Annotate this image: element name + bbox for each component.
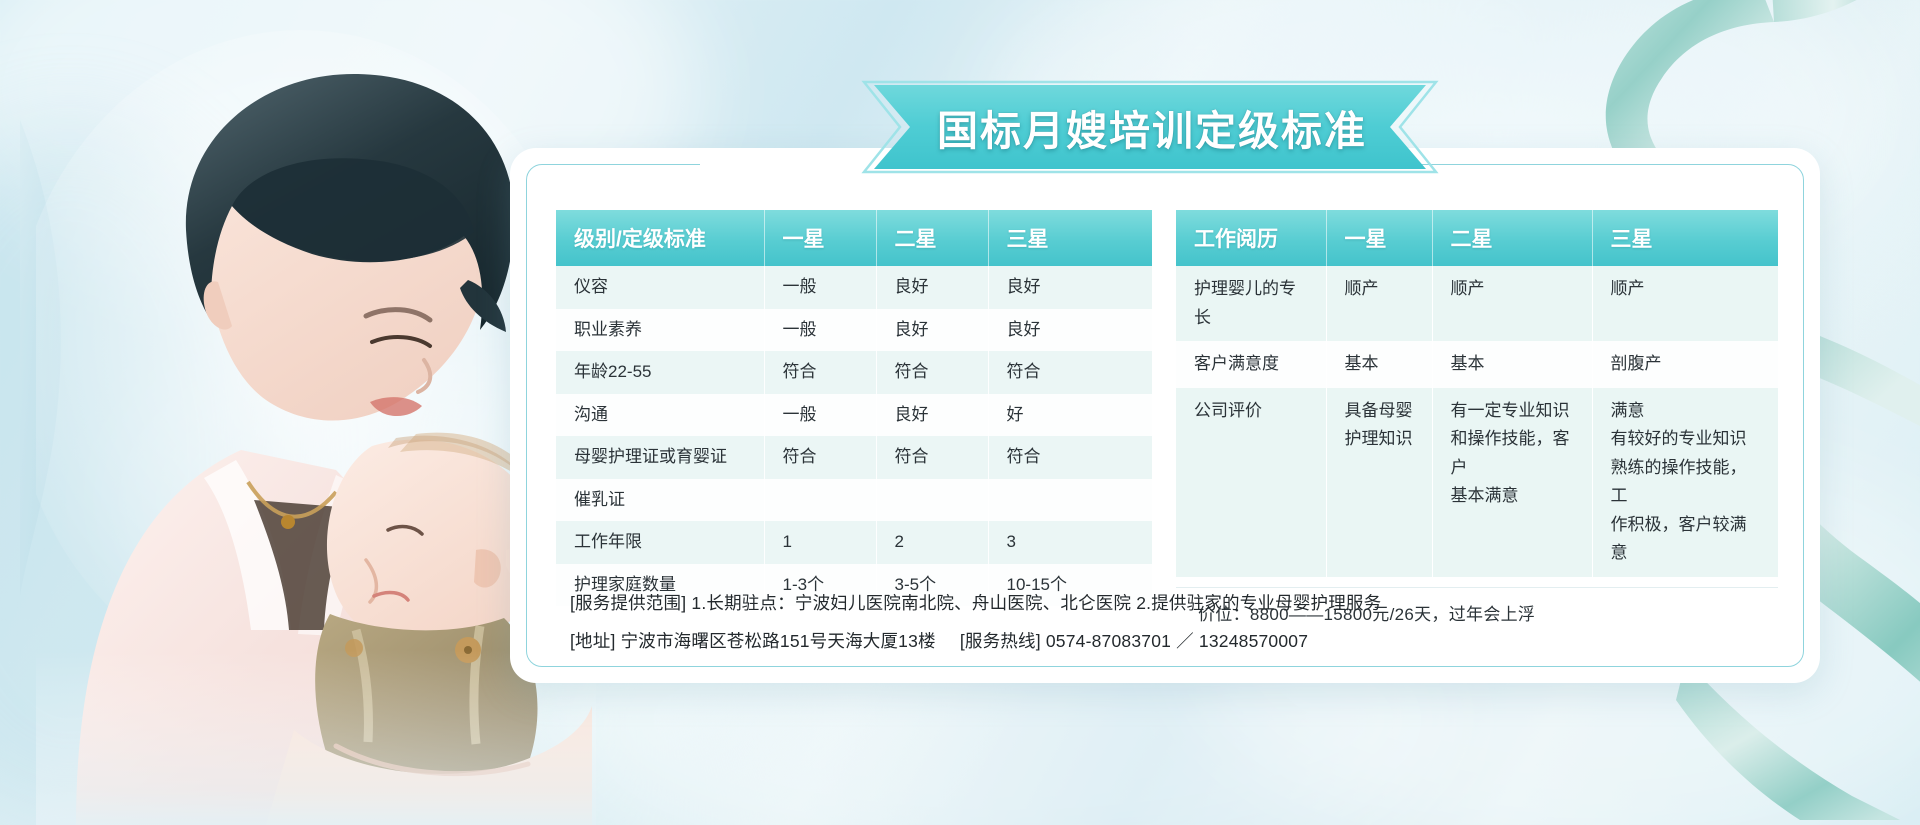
table-row: 母婴护理证或育婴证符合符合符合 xyxy=(556,436,1152,479)
right-table-panel: 工作阅历 一星 二星 三星 护理婴儿的专长顺产顺产顺产客户满意度基本基本剖腹产公… xyxy=(1176,210,1778,610)
cell-two-star: 符合 xyxy=(876,436,988,479)
cell-two-star: 良好 xyxy=(876,394,988,437)
cell-two-star: 符合 xyxy=(876,351,988,394)
row-label: 沟通 xyxy=(556,394,764,437)
col-header-three-star: 三星 xyxy=(1592,210,1778,266)
cell-one-star: 一般 xyxy=(764,309,876,352)
cell-one-star xyxy=(764,479,876,522)
cell-three-star: 好 xyxy=(988,394,1152,437)
row-label: 职业素养 xyxy=(556,309,764,352)
row-label: 公司评价 xyxy=(1176,388,1326,577)
left-table-panel: 级别/定级标准 一星 二星 三星 仪容一般良好良好职业素养一般良好良好年龄22-… xyxy=(556,210,1152,610)
row-label: 母婴护理证或育婴证 xyxy=(556,436,764,479)
cell-three-star: 满意有较好的专业知识熟练的操作技能，工作积极，客户较满意 xyxy=(1592,388,1778,577)
col-header-experience: 工作阅历 xyxy=(1176,210,1326,266)
col-header-three-star: 三星 xyxy=(988,210,1152,266)
cell-three-star: 良好 xyxy=(988,309,1152,352)
col-header-two-star: 二星 xyxy=(1432,210,1592,266)
cell-one-star: 具备母婴护理知识 xyxy=(1326,388,1432,577)
footer-info: [服务提供范围] 1.长期驻点：宁波妇儿医院南北院、舟山医院、北仑医院 2.提供… xyxy=(570,585,1800,660)
cell-three-star: 3 xyxy=(988,521,1152,564)
footer-address: [地址] 宁波市海曙区苍松路151号天海大厦13楼 xyxy=(570,631,936,651)
cell-three-star: 顺产 xyxy=(1592,266,1778,341)
col-header-one-star: 一星 xyxy=(1326,210,1432,266)
left-table-body: 仪容一般良好良好职业素养一般良好良好年龄22-55符合符合符合沟通一般良好好母婴… xyxy=(556,266,1152,606)
table-row: 客户满意度基本基本剖腹产 xyxy=(1176,341,1778,388)
table-row: 仪容一般良好良好 xyxy=(556,266,1152,309)
cell-two-star: 2 xyxy=(876,521,988,564)
row-label: 仪容 xyxy=(556,266,764,309)
table-row: 护理婴儿的专长顺产顺产顺产 xyxy=(1176,266,1778,341)
cell-two-star: 良好 xyxy=(876,266,988,309)
footer-address-line: [地址] 宁波市海曙区苍松路151号天海大厦13楼 [服务热线] 0574-87… xyxy=(570,623,1800,661)
cell-three-star: 剖腹产 xyxy=(1592,341,1778,388)
cell-two-star: 良好 xyxy=(876,309,988,352)
cell-one-star: 符合 xyxy=(764,351,876,394)
cell-three-star: 符合 xyxy=(988,351,1152,394)
row-label: 催乳证 xyxy=(556,479,764,522)
table-row: 公司评价具备母婴护理知识有一定专业知识和操作技能，客户基本满意满意有较好的专业知… xyxy=(1176,388,1778,577)
cell-two-star: 基本 xyxy=(1432,341,1592,388)
work-experience-table: 工作阅历 一星 二星 三星 护理婴儿的专长顺产顺产顺产客户满意度基本基本剖腹产公… xyxy=(1176,210,1778,577)
cell-three-star: 良好 xyxy=(988,266,1152,309)
cell-one-star: 基本 xyxy=(1326,341,1432,388)
table-row: 年龄22-55符合符合符合 xyxy=(556,351,1152,394)
footer-service-scope: [服务提供范围] 1.长期驻点：宁波妇儿医院南北院、舟山医院、北仑医院 2.提供… xyxy=(570,585,1800,623)
table-row: 沟通一般良好好 xyxy=(556,394,1152,437)
right-table-body: 护理婴儿的专长顺产顺产顺产客户满意度基本基本剖腹产公司评价具备母婴护理知识有一定… xyxy=(1176,266,1778,577)
cell-two-star xyxy=(876,479,988,522)
row-label: 客户满意度 xyxy=(1176,341,1326,388)
table-header-row: 级别/定级标准 一星 二星 三星 xyxy=(556,210,1152,266)
cell-one-star: 1 xyxy=(764,521,876,564)
cell-three-star xyxy=(988,479,1152,522)
ribbon-decoration-left-icon xyxy=(20,80,180,600)
row-label: 工作年限 xyxy=(556,521,764,564)
banner: 国标月嫂培训定级标准 xyxy=(860,78,1440,176)
background-streak xyxy=(0,120,280,820)
table-header-row: 工作阅历 一星 二星 三星 xyxy=(1176,210,1778,266)
row-label: 年龄22-55 xyxy=(556,351,764,394)
banner-title: 国标月嫂培训定级标准 xyxy=(860,78,1440,176)
tables-container: 级别/定级标准 一星 二星 三星 仪容一般良好良好职业素养一般良好良好年龄22-… xyxy=(556,210,1778,610)
table-row: 工作年限123 xyxy=(556,521,1152,564)
cell-three-star: 符合 xyxy=(988,436,1152,479)
cell-one-star: 一般 xyxy=(764,266,876,309)
table-row: 催乳证 xyxy=(556,479,1152,522)
row-label: 护理婴儿的专长 xyxy=(1176,266,1326,341)
col-header-two-star: 二星 xyxy=(876,210,988,266)
col-header-criteria: 级别/定级标准 xyxy=(556,210,764,266)
cell-one-star: 一般 xyxy=(764,394,876,437)
grading-standard-table: 级别/定级标准 一星 二星 三星 仪容一般良好良好职业素养一般良好良好年龄22-… xyxy=(556,210,1152,606)
cell-two-star: 有一定专业知识和操作技能，客户基本满意 xyxy=(1432,388,1592,577)
footer-hotline[interactable]: [服务热线] 0574-87083701 ／ 13248570007 xyxy=(960,631,1308,651)
cell-one-star: 顺产 xyxy=(1326,266,1432,341)
col-header-one-star: 一星 xyxy=(764,210,876,266)
cell-one-star: 符合 xyxy=(764,436,876,479)
table-row: 职业素养一般良好良好 xyxy=(556,309,1152,352)
cell-two-star: 顺产 xyxy=(1432,266,1592,341)
